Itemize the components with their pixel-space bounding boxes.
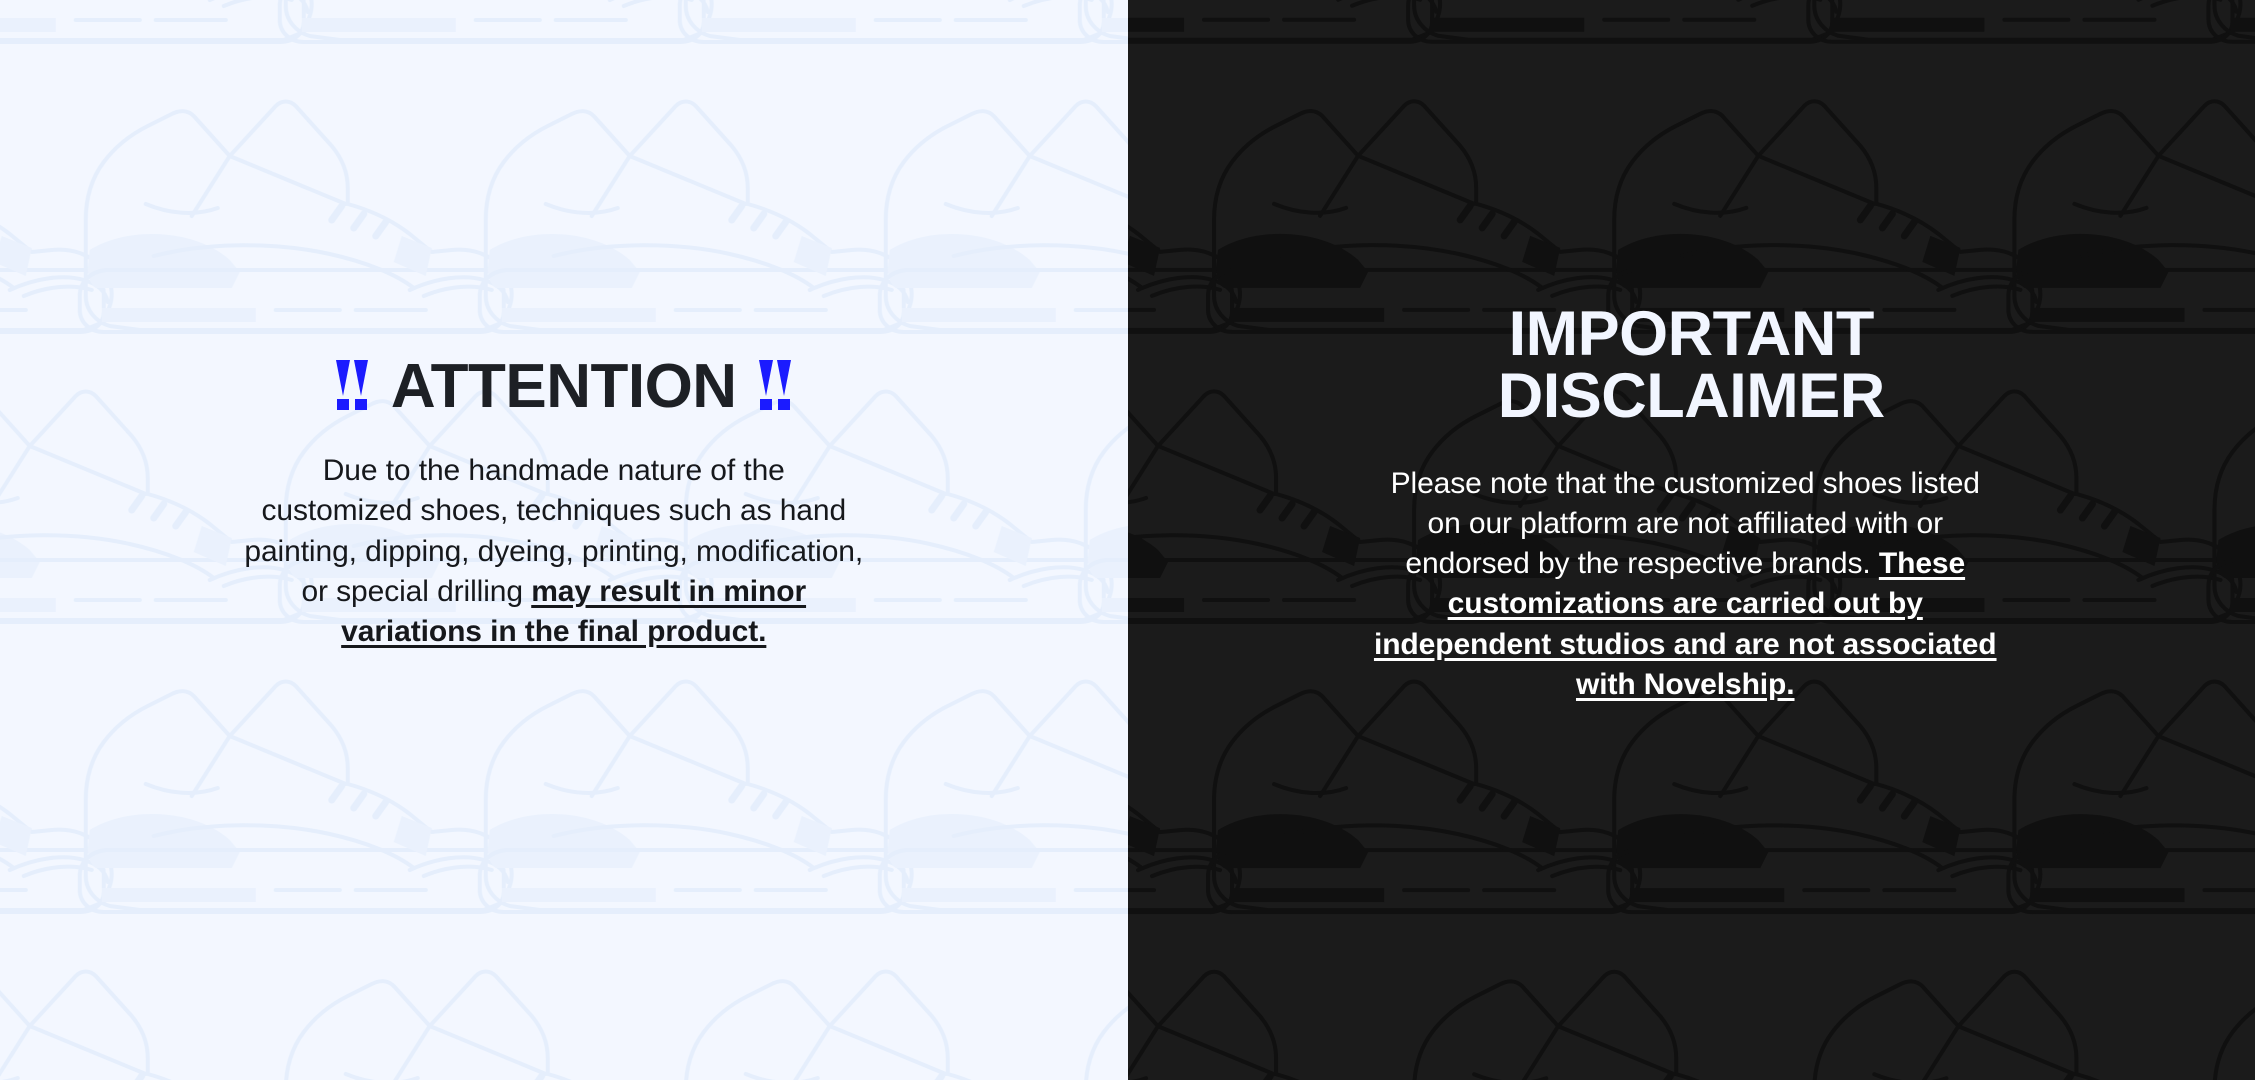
disclaimer-heading-line-1: IMPORTANT (1509, 299, 1874, 369)
attention-panel: ATTENTION Due to the handmade nature of … (0, 0, 1128, 1080)
double-exclamation-right-icon (759, 360, 792, 410)
disclaimer-content: IMPORTANT DISCLAIMER Please note that th… (1128, 0, 2255, 1080)
attention-body: Due to the handmade nature of the custom… (244, 451, 864, 652)
attention-heading-text: ATTENTION (391, 356, 737, 417)
attention-content: ATTENTION Due to the handmade nature of … (0, 0, 1128, 1080)
disclaimer-panel: IMPORTANT DISCLAIMER Please note that th… (1128, 0, 2255, 1080)
double-exclamation-left-icon (336, 360, 369, 410)
disclaimer-heading: IMPORTANT DISCLAIMER (1411, 303, 1971, 428)
attention-heading: ATTENTION (244, 356, 884, 417)
disclaimer-heading-line-2: DISCLAIMER (1498, 361, 1885, 431)
disclaimer-banner: ATTENTION Due to the handmade nature of … (0, 0, 2255, 1080)
disclaimer-body: Please note that the customized shoes li… (1371, 464, 1999, 705)
